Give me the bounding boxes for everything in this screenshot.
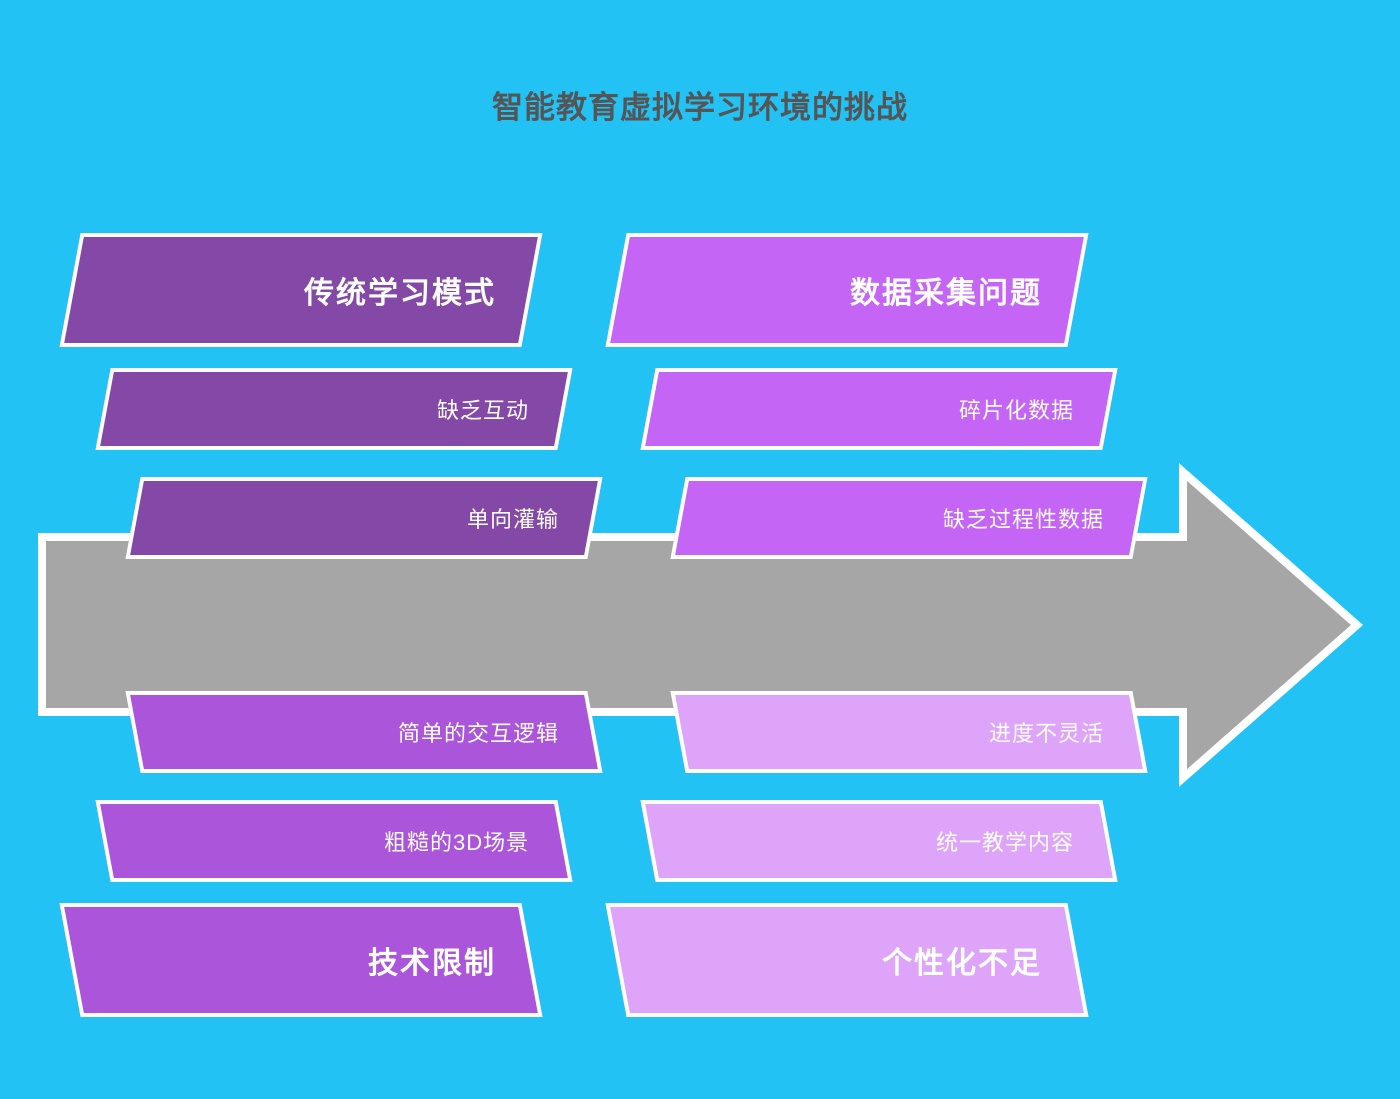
band-label: 统一教学内容	[936, 825, 1074, 857]
band-top-right-item-1[interactable]: 碎片化数据	[640, 368, 1117, 450]
band-label: 碎片化数据	[959, 393, 1074, 425]
diagram-canvas: 智能教育虚拟学习环境的挑战 传统学习模式 缺乏互动 单向灌输 数据采集问题 碎片…	[0, 0, 1400, 1099]
band-top-left-header[interactable]: 传统学习模式	[59, 233, 542, 347]
band-label: 数据采集问题	[850, 268, 1042, 312]
band-label: 缺乏过程性数据	[943, 502, 1104, 534]
band-bottom-left-header[interactable]: 技术限制	[59, 903, 542, 1017]
band-bottom-left-item-2[interactable]: 粗糙的3D场景	[95, 800, 572, 882]
band-top-left-item-1[interactable]: 缺乏互动	[95, 368, 572, 450]
band-bottom-right-item-1[interactable]: 进度不灵活	[670, 691, 1147, 773]
band-bottom-left-item-1[interactable]: 简单的交互逻辑	[125, 691, 602, 773]
band-label: 传统学习模式	[304, 268, 496, 312]
band-top-right-header[interactable]: 数据采集问题	[605, 233, 1088, 347]
band-bottom-right-header[interactable]: 个性化不足	[605, 903, 1088, 1017]
band-top-right-item-2[interactable]: 缺乏过程性数据	[670, 477, 1147, 559]
band-label: 粗糙的3D场景	[384, 825, 529, 857]
band-label: 缺乏互动	[437, 393, 529, 425]
band-label: 进度不灵活	[989, 716, 1104, 748]
band-label: 简单的交互逻辑	[398, 716, 559, 748]
band-label: 个性化不足	[882, 938, 1042, 982]
band-label: 单向灌输	[467, 502, 559, 534]
band-top-left-item-2[interactable]: 单向灌输	[125, 477, 602, 559]
band-label: 技术限制	[368, 938, 496, 982]
band-bottom-right-item-2[interactable]: 统一教学内容	[640, 800, 1117, 882]
